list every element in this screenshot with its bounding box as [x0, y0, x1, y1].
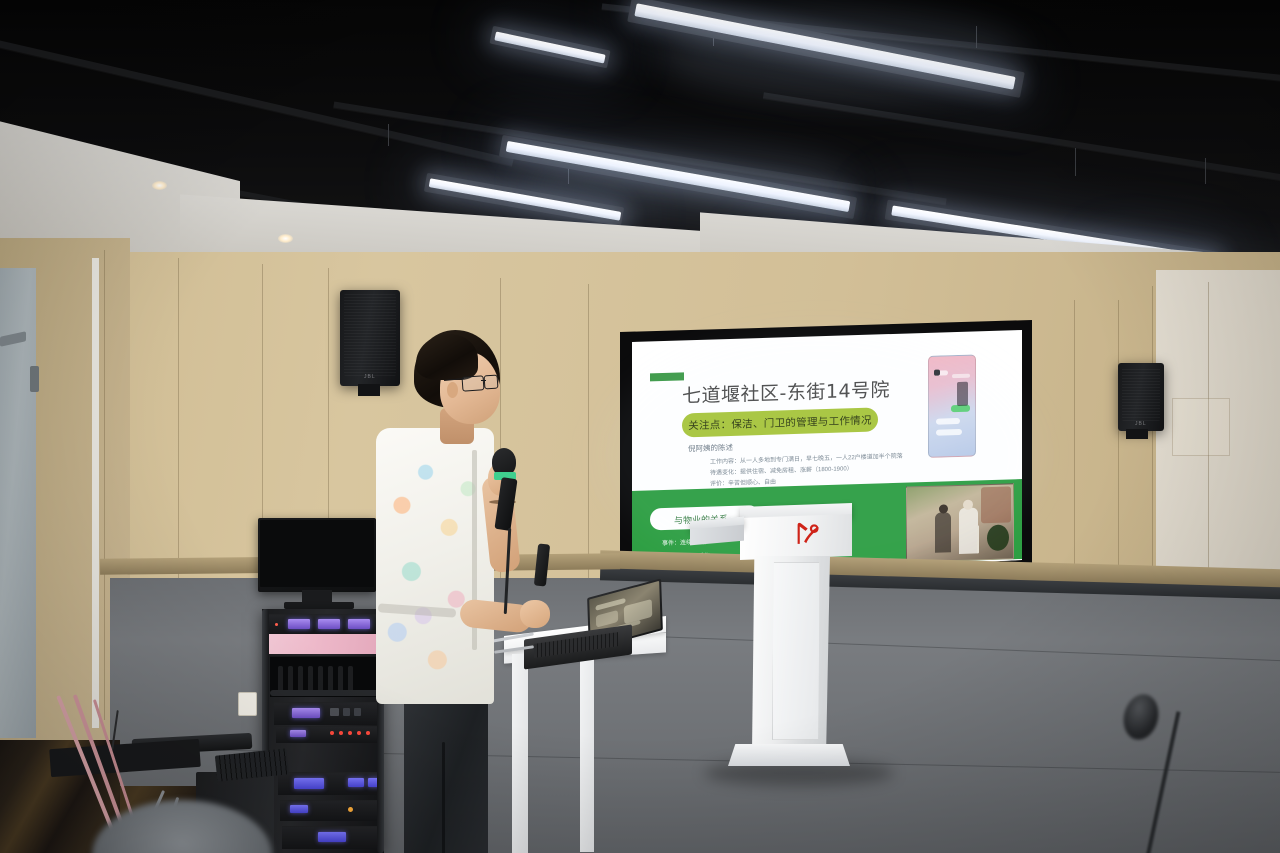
receiver-lcd-display: [348, 619, 370, 629]
slide-accent-bar: [650, 372, 684, 381]
mic-in-drawer: [328, 666, 333, 692]
light-hanger: [1205, 158, 1206, 184]
wall-seam: [104, 250, 105, 720]
mic-in-drawer: [308, 666, 313, 692]
amplifier-lcd-display: [348, 778, 364, 787]
mic-in-drawer: [338, 666, 343, 692]
light-hanger: [1075, 148, 1076, 176]
wall-speaker-right: JBL: [1118, 363, 1164, 431]
photo-person: [959, 507, 978, 554]
speaker-mount: [1126, 429, 1148, 439]
chat-bubble: [952, 374, 970, 379]
ceiling-downlight: [152, 181, 167, 190]
slide-highlight-pill: 关注点：保洁、门卫的管理与工作情况: [682, 407, 878, 437]
presenter-legs: [404, 690, 488, 853]
control-monitor[interactable]: [258, 518, 376, 592]
speaker-grille: [344, 294, 396, 376]
presenter-leg-split: [442, 742, 445, 853]
door-handle[interactable]: [30, 366, 39, 392]
rack-cloth-cover: [266, 634, 384, 654]
patch-led: [330, 731, 334, 735]
speaker-mount: [358, 384, 380, 396]
wall-seam: [328, 268, 329, 548]
slide-highlight-text: 关注点：保洁、门卫的管理与工作情况: [688, 412, 872, 433]
monitor-stand-base: [284, 602, 354, 609]
processor-led: [348, 807, 353, 812]
phone-dark-strip: [957, 382, 968, 406]
presentation-room-scene: JBL JBL 七道堰社区-东街14号院 关注点：保洁、门卫的管理与工作情况 倪…: [0, 0, 1280, 853]
rack-unit-mixer[interactable]: [274, 702, 382, 725]
slide-title: 七道堰社区-东街14号院: [682, 375, 890, 408]
mixer-button[interactable]: [354, 708, 361, 716]
presenter-table-leg: [580, 656, 594, 852]
receiver-lcd-display: [318, 619, 340, 629]
patch-led: [357, 731, 361, 735]
drawer-front-rail: [270, 690, 382, 696]
patch-led: [348, 731, 352, 735]
light-hanger: [388, 124, 389, 146]
speaker-brand-logo: JBL: [1135, 421, 1147, 427]
presenter-hand-left: [520, 600, 550, 628]
slide-bullet: 工作内容：从一人多地到专门满日，早七晚五，一人22户楼道加半个院落: [710, 451, 903, 466]
slide-bullet: 待遇变化：提供住宿、减免房租、涨薪（1800-1900）: [710, 463, 853, 476]
slide-photo-street: [906, 483, 1014, 562]
photo-person: [935, 512, 951, 552]
wall-acoustic-panel: [1172, 398, 1230, 456]
photo-cane: [977, 525, 979, 553]
photo-foliage: [987, 524, 1009, 551]
wall-outlet[interactable]: [238, 692, 257, 716]
wall-seam: [588, 284, 589, 594]
mic-in-drawer: [288, 666, 293, 692]
presenter-eyeglasses: [484, 375, 499, 390]
slide-photo-phone-chat: [928, 354, 976, 457]
eyeglasses-bridge: [481, 380, 486, 381]
chat-bubble: [936, 429, 962, 436]
patch-lcd-display: [290, 730, 306, 737]
presenter-table-leg: [512, 654, 528, 853]
ceiling-downlight: [278, 234, 293, 243]
wall-speaker-left: JBL: [340, 290, 400, 386]
receiver-lcd-display: [288, 619, 310, 629]
mixer-button[interactable]: [343, 708, 350, 716]
patch-led: [366, 731, 370, 735]
laptop-ui-block: [595, 598, 625, 611]
mixer-button[interactable]: [330, 708, 339, 716]
light-hanger: [976, 26, 977, 48]
mixer-lcd-display: [292, 708, 320, 718]
laptop-ui-block: [596, 610, 618, 628]
mic-in-drawer: [318, 666, 323, 692]
patch-led: [339, 731, 343, 735]
slide-subhead: 倪阿姨的陈述: [688, 442, 733, 454]
chat-avatar: [934, 370, 940, 376]
mic-in-drawer: [298, 666, 303, 692]
presenter-eyeglasses: [462, 375, 485, 391]
podium-base: [728, 744, 850, 766]
monitor-screen: [260, 520, 374, 587]
mic-in-drawer: [348, 666, 353, 692]
door-frame: [92, 258, 99, 728]
cpc-emblem: [792, 520, 822, 546]
amplifier-lcd-display: [294, 778, 324, 789]
bottom-lcd-display: [318, 832, 346, 842]
photo-wall: [981, 486, 1011, 523]
speaker-brand-logo: JBL: [364, 374, 376, 380]
chat-bubble: [936, 418, 960, 425]
rack-status-led: [275, 623, 278, 626]
mic-in-drawer: [278, 666, 283, 692]
presenter-ear: [447, 382, 458, 398]
podium-column-inset: [772, 562, 820, 740]
processor-lcd-display: [290, 805, 308, 813]
speaker-grille: [1122, 367, 1160, 421]
